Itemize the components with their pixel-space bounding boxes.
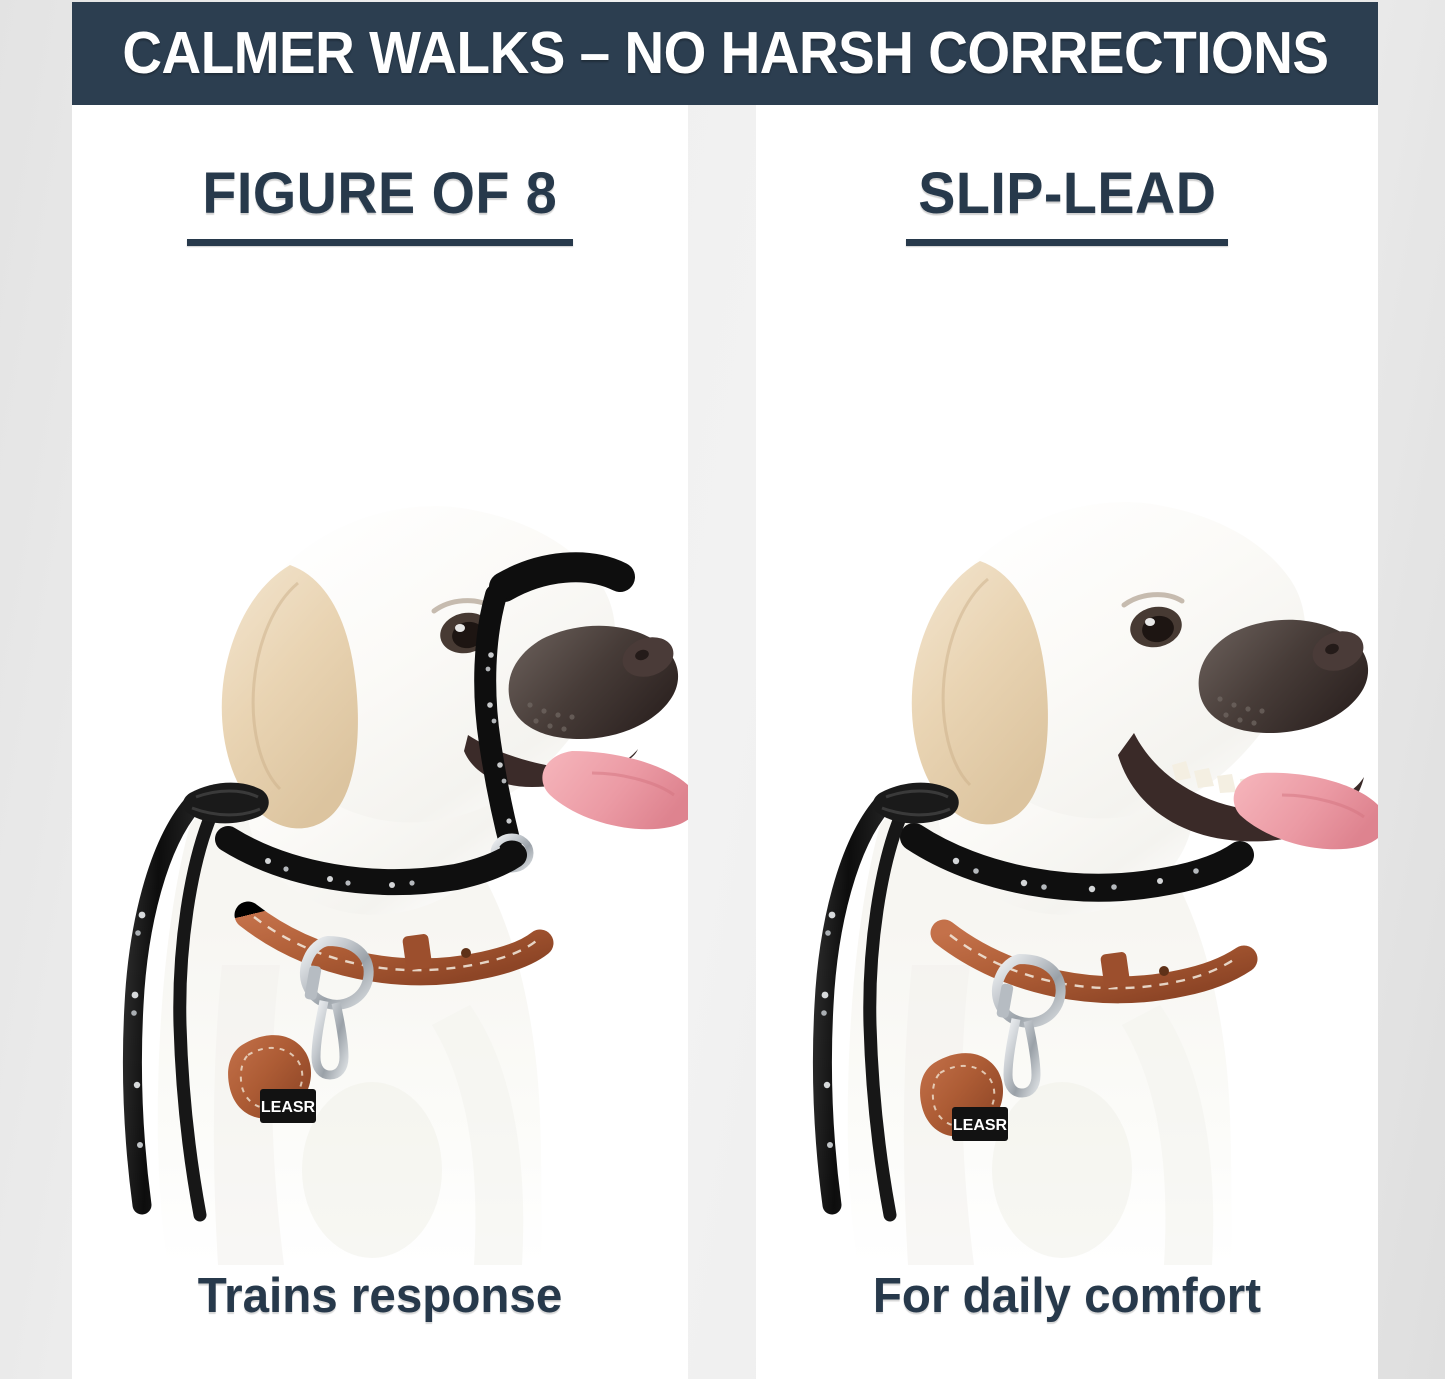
rope-knot-sleeve	[183, 783, 269, 824]
rope-knot-sleeve	[873, 783, 959, 824]
dog-shoulder	[992, 1082, 1132, 1258]
dog-shoulder	[302, 1082, 442, 1258]
dog-photo-slip-lead: LEASR	[756, 265, 1378, 1265]
panel-right-title-block: SLIP-LEAD	[756, 165, 1378, 246]
panel-right-title: SLIP-LEAD	[918, 165, 1216, 223]
labrador-with-headcollar-illustration: LEASR	[72, 265, 688, 1265]
header-banner: CALMER WALKS – NO HARSH CORRECTIONS	[72, 2, 1378, 105]
panel-left-caption: Trains response	[81, 1272, 679, 1321]
collar-keeper-loop	[402, 933, 432, 970]
panel-left-title-underline	[187, 239, 573, 246]
banner-headline: CALMER WALKS – NO HARSH CORRECTIONS	[122, 24, 1328, 83]
collar-punch-hole	[461, 948, 471, 958]
panel-left-title-block: FIGURE OF 8	[72, 165, 688, 246]
panel-slip-lead: SLIP-LEAD	[756, 105, 1378, 1379]
brand-tag: LEASR	[952, 1107, 1008, 1141]
panel-left-title: FIGURE OF 8	[203, 165, 558, 223]
dog-eye-highlight	[1145, 618, 1155, 626]
dog-photo-figure-of-8: LEASR	[72, 265, 688, 1265]
collar-keeper-loop	[1100, 951, 1130, 988]
brand-tag-label: LEASR	[261, 1099, 316, 1116]
collar-punch-hole	[1159, 966, 1169, 976]
brand-tag: LEASR	[260, 1089, 316, 1123]
panel-right-caption: For daily comfort	[765, 1272, 1368, 1321]
product-comparison-infographic: CALMER WALKS – NO HARSH CORRECTIONS FIGU…	[0, 0, 1445, 1379]
panel-right-title-underline	[906, 239, 1228, 246]
panel-figure-of-8: FIGURE OF 8	[72, 105, 688, 1379]
labrador-with-slip-lead-illustration: LEASR	[756, 265, 1378, 1265]
dog-eye-highlight	[455, 624, 465, 632]
brand-tag-label: LEASR	[953, 1117, 1008, 1134]
